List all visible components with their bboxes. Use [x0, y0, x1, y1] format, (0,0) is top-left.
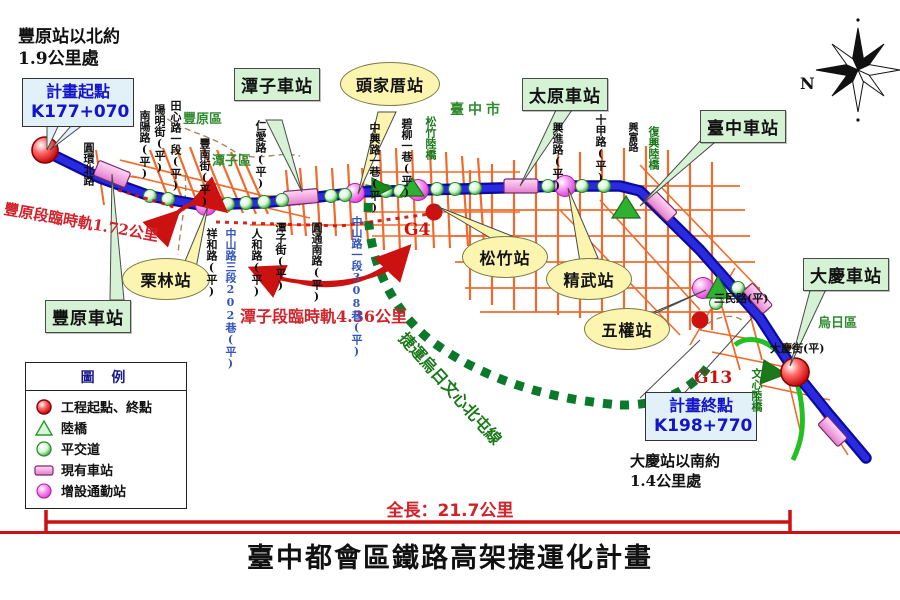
legend-label-1: 陸橋: [61, 418, 87, 437]
road-label-6: 中山路三段202巷(平): [222, 228, 238, 370]
legend-title: 圖 例: [26, 363, 186, 391]
legend-label-0: 工程起點、終點: [61, 397, 152, 416]
legend-item-existing-station: 現有車站: [34, 460, 180, 479]
road-label-20: 大慶街(平): [770, 340, 824, 356]
existing-station-taiyuan: [504, 179, 538, 193]
legend-list: 工程起點、終點 陸橋 平交道 現有車站: [26, 391, 186, 508]
road-label-13: 碧柳一巷(平): [398, 118, 414, 199]
callout-wuquan-station[interactable]: 五權站: [584, 308, 670, 350]
level-crossing-icon: [34, 441, 54, 457]
area-label-taichung-city: 臺中市: [450, 99, 504, 119]
map-canvas: 豐原站以北約 1.9公里處 計畫起點 K177+070 計畫終點 K198+77…: [0, 0, 900, 600]
road-label-9: 圓通南路(平): [308, 222, 324, 303]
road-label-0: 田心路一段(平): [167, 100, 183, 192]
road-label-18: 復興陸橋: [645, 126, 661, 170]
end-note-line1: 大慶站以南約: [630, 452, 720, 472]
road-label-10: 仁愛路(平): [252, 120, 268, 190]
start-point-note: 豐原站以北約 1.9公里處: [18, 26, 120, 70]
road-label-14: 松竹陸橋: [422, 116, 438, 160]
compass-north-label: N: [800, 74, 815, 93]
g4-label: G4: [404, 220, 430, 240]
road-label-11: 中山路一段308巷(平): [348, 216, 364, 358]
callout-toujiacuo-station[interactable]: 頭家厝站: [340, 62, 440, 106]
callout-taichung-station[interactable]: 臺中車站: [700, 110, 786, 143]
road-label-1: 陽明街(平): [151, 104, 167, 174]
callout-songzhu-station[interactable]: 松竹站: [462, 236, 548, 278]
callout-lilin-station[interactable]: 栗林站: [122, 258, 210, 300]
g13-marker-dot: [692, 312, 709, 329]
page-title: 臺中都會區鐵路高架捷運化計畫: [0, 536, 900, 575]
legend-item-level-crossing: 平交道: [34, 439, 180, 458]
road-label-12: 中興路一巷(平): [366, 122, 382, 214]
road-label-21: 文心陸橋: [748, 368, 764, 412]
road-label-17: 興富路: [624, 122, 639, 152]
callout-taiyuan-station[interactable]: 太原車站: [522, 78, 608, 111]
legend-item-start-end: 工程起點、終點: [34, 397, 180, 416]
road-label-7: 人和路(平): [248, 228, 264, 298]
area-label-fengyuan: 豐原區: [183, 108, 222, 127]
start-box-title: 計畫起點: [31, 82, 125, 102]
project-end-point-marker: [781, 358, 809, 386]
road-label-8: 潭子街(平): [272, 222, 288, 292]
area-label-tanzi: 潭子區: [212, 150, 251, 169]
end-box-value: K198+770: [654, 416, 748, 437]
start-box-value: K177+070: [31, 102, 125, 123]
existing-station-icon: [34, 462, 54, 478]
road-label-15: 興進路(平): [549, 122, 565, 192]
legend-label-3: 現有車站: [61, 460, 113, 479]
overpass-icon: [34, 420, 54, 436]
callout-tanzi-station[interactable]: 潭子車站: [234, 68, 320, 101]
callout-fengyuan-station[interactable]: 豐原車站: [45, 300, 131, 333]
road-label-5: 祥和路(平): [203, 228, 219, 298]
end-point-note: 大慶站以南約 1.4公里處: [630, 452, 720, 491]
callout-jingwu-station[interactable]: 精武站: [546, 258, 632, 300]
legend-panel: 圖 例 工程起點、終點 陸橋 平交道: [25, 362, 187, 509]
start-note-line2: 1.9公里處: [18, 48, 120, 70]
road-label-19: 三民路(平): [714, 290, 768, 306]
road-label-3: 圓環北路: [80, 142, 96, 186]
start-point-box[interactable]: 計畫起點 K177+070: [22, 78, 134, 127]
end-note-line2: 1.4公里處: [630, 472, 720, 492]
road-label-4: 豐南街(平): [196, 138, 212, 208]
road-label-2: 南陽路(平): [136, 110, 152, 180]
g4-marker-dot: [426, 204, 443, 221]
total-length-label: 全長：21.7公里: [0, 496, 900, 521]
callout-daqing-station[interactable]: 大慶車站: [803, 258, 889, 291]
legend-item-overpass: 陸橋: [34, 418, 180, 437]
legend-label-2: 平交道: [61, 439, 100, 458]
start-end-point-icon: [34, 399, 54, 415]
end-point-box[interactable]: 計畫終點 K198+770: [645, 392, 757, 441]
road-label-16: 十甲路(平): [592, 114, 608, 184]
compass-rose-icon: [816, 18, 900, 121]
start-note-line1: 豐原站以北約: [18, 26, 120, 48]
area-label-wuri: 烏日區: [818, 312, 857, 331]
g13-label: G13: [694, 368, 732, 388]
bottom-spacer: [0, 585, 900, 600]
tanzi-temp-track-label: 潭子段臨時軌4.36公里: [240, 303, 407, 327]
end-box-title: 計畫終點: [654, 396, 748, 416]
title-divider: [0, 531, 900, 534]
project-start-point-marker: [32, 137, 58, 163]
overpass-fuxing: [612, 196, 640, 218]
